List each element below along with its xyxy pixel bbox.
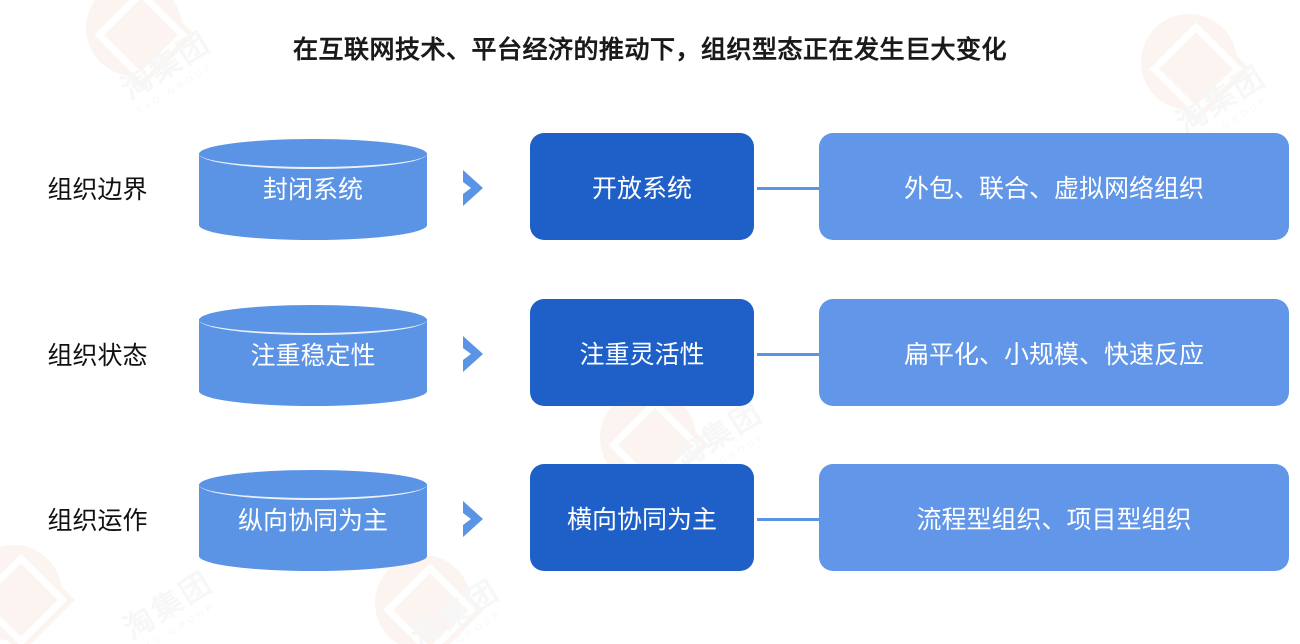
watermark-brand-label: 淘集团	[405, 574, 506, 644]
cylinder-label: 纵向协同为主	[199, 470, 427, 568]
watermark-brand-sub: TAO GROUP	[424, 603, 513, 644]
watermark-brand-label: 淘集团	[1171, 60, 1272, 140]
box-after-state[interactable]: 横向协同为主	[530, 464, 754, 571]
chevron-right-icon	[459, 334, 495, 374]
box-after-state[interactable]: 开放系统	[530, 133, 754, 240]
row-label-organization-boundary: 组织边界	[10, 170, 185, 206]
page-title: 在互联网技术、平台经济的推动下，组织型态正在发生巨大变化	[0, 30, 1300, 66]
watermark-brand-text: 淘集团 TAO GROUP	[400, 566, 513, 644]
row-label-organization-operation: 组织运作	[10, 501, 185, 537]
connector-line	[757, 518, 819, 521]
chevron-right-icon	[459, 499, 495, 539]
diagram-row: 组织状态 注重稳定性 注重灵活性 扁平化、小规模、快速反应	[0, 299, 1300, 409]
cylinder-before-state: 注重稳定性	[199, 305, 427, 403]
cylinder-before-state: 纵向协同为主	[199, 470, 427, 568]
box-after-state[interactable]: 注重灵活性	[530, 299, 754, 406]
box-detail[interactable]: 扁平化、小规模、快速反应	[819, 299, 1289, 406]
diagram-row: 组织运作 纵向协同为主 横向协同为主 流程型组织、项目型组织	[0, 464, 1300, 574]
diagram-canvas: 淘集团 TAO GROUP 淘集团 TAO GROUP 淘集团 TAO GROU…	[0, 0, 1300, 644]
box-detail[interactable]: 外包、联合、虚拟网络组织	[819, 133, 1289, 240]
chevron-right-icon	[459, 168, 495, 208]
connector-line	[757, 353, 819, 356]
row-label-organization-state: 组织状态	[10, 336, 185, 372]
cylinder-label: 注重稳定性	[199, 305, 427, 403]
box-detail[interactable]: 流程型组织、项目型组织	[819, 464, 1289, 571]
watermark-brand-label: 淘集团	[118, 566, 219, 644]
connector-line	[757, 187, 819, 190]
diagram-row: 组织边界 封闭系统 开放系统 外包、联合、虚拟网络组织	[0, 133, 1300, 243]
cylinder-label: 封闭系统	[199, 139, 427, 237]
cylinder-before-state: 封闭系统	[199, 139, 427, 237]
watermark-brand-sub: TAO GROUP	[137, 595, 226, 644]
